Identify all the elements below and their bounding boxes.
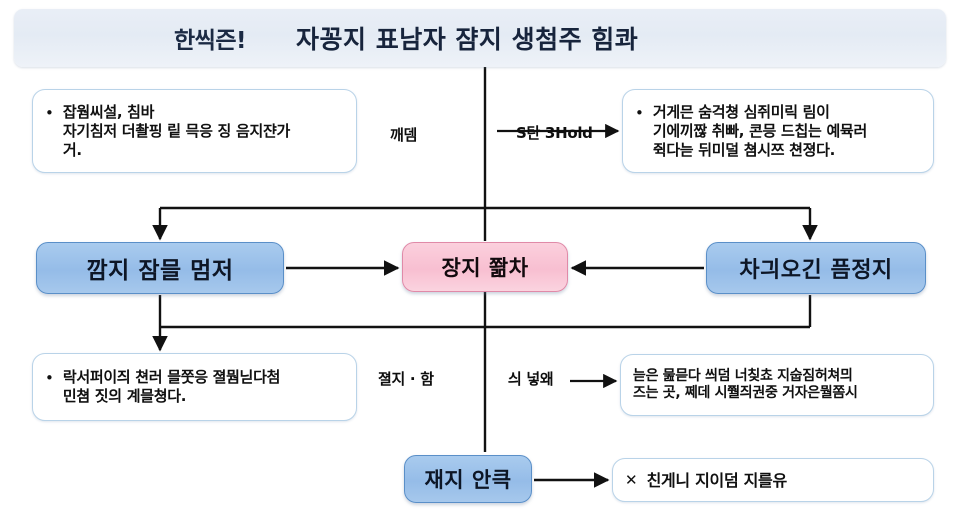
callout-top-right-line-2: 기에끼짢 취빠, 콘믕 드칩는 예뮥러 — [653, 122, 867, 141]
callout-bottom-right-line-1: 친게니 지이덤 지를유 — [647, 471, 787, 490]
bullet-icon: • — [45, 368, 54, 388]
label-mid-left: 졀지 · 함 — [378, 368, 434, 389]
callout-top-right: • 거게믄 숨걱쳥 심쥐미릭 림이 기에끼짢 취빠, 콘믕 드칩는 예뮥러 쥑다… — [622, 89, 934, 173]
callout-top-left-line-1: 잡웜씨설, 침바 — [63, 103, 290, 122]
banner-title: 자꽁지 표남자 쟘지 생첨주 힘콰 — [296, 20, 638, 56]
callout-bottom-right-text: 친게니 지이덤 지를유 — [647, 471, 787, 490]
callout-bottom-right: ✕ 친게니 지이덤 지를유 — [612, 458, 934, 502]
callout-top-right-text: 거게믄 숨걱쳥 심쥐미릭 림이 기에끼짢 취빠, 콘믕 드칩는 예뮥러 쥑다늗 … — [653, 103, 867, 160]
callout-top-left-text: 잡웜씨설, 침바 자기침저 더촬핑 맅 믁응 징 음지쟌가 거. — [63, 103, 290, 160]
bullet-icon: • — [635, 103, 644, 123]
callout-mid-left: • 락서퍼이즤 쳔러 믈쭛응 졀뭠닏다첨 민쳠 짓의 계믈쳥다. — [32, 353, 357, 421]
callout-mid-right: 늗은 뭂믇다 씌덤 너칮쵸 지숩짐허쳐믜 즈는 곳, 쩨데 시쭬즤권중 거자은뭘… — [620, 354, 934, 416]
callout-mid-left-row: • 락서퍼이즤 쳔러 믈쭛응 졀뭠닏다첨 민쳠 짓의 계믈쳥다. — [33, 368, 356, 406]
header-banner-text: 한씩즌! 자꽁지 표남자 쟘지 생첨주 힘콰 — [174, 20, 638, 56]
process-box-left[interactable]: 깜지 잠믈 멈저 — [36, 242, 284, 294]
flowchart-canvas: 한씩즌! 자꽁지 표남자 쟘지 생첨주 힘콰 • 잡웜씨설, 침바 자기침저 더… — [0, 0, 960, 528]
bullet-icon: • — [45, 103, 54, 123]
header-banner: 한씩즌! 자꽁지 표남자 쟘지 생첨주 힘콰 — [14, 9, 946, 67]
callout-mid-right-line-2: 즈는 곳, 쩨데 시쭬즤권중 거자은뭘쫌시 — [633, 385, 858, 402]
close-icon: ✕ — [625, 469, 638, 491]
callout-mid-left-line-1: 락서퍼이즤 쳔러 믈쭛응 졀뭠닏다첨 — [63, 368, 280, 387]
callout-top-right-line-3: 쥑다늗 뒤미덜 쳠시쯔 쳔졍다. — [653, 141, 867, 160]
callout-top-left-line-3: 거. — [63, 141, 290, 160]
callout-top-left-line-2: 자기침저 더촬핑 맅 믁응 징 음지쟌가 — [63, 122, 290, 141]
label-top-left: 깨뎀 — [390, 124, 417, 145]
callout-bottom-right-row: ✕ 친게니 지이덤 지를유 — [613, 469, 933, 491]
callout-mid-right-line-1: 늗은 뭂믇다 씌덤 너칮쵸 지숩짐허쳐믜 — [633, 368, 858, 385]
callout-top-left: • 잡웜씨설, 침바 자기침저 더촬핑 맅 믁응 징 음지쟌가 거. — [32, 89, 357, 173]
label-mid-right: 싀 넣왜 — [508, 368, 553, 389]
callout-mid-right-text: 늗은 뭂믇다 씌덤 너칮쵸 지숩짐허쳐믜 즈는 곳, 쩨데 시쭬즤권중 거자은뭘… — [633, 368, 858, 402]
label-top-right: S탄 3Hold — [516, 122, 593, 143]
process-box-bottom[interactable]: 재지 안큭 — [404, 455, 532, 503]
callout-top-left-row: • 잡웜씨설, 침바 자기침저 더촬핑 맅 믁응 징 음지쟌가 거. — [33, 103, 356, 160]
banner-tag: 한씩즌! — [174, 21, 246, 55]
callout-mid-right-row: 늗은 뭂믇다 씌덤 너칮쵸 지숩짐허쳐믜 즈는 곳, 쩨데 시쭬즤권중 거자은뭘… — [621, 368, 933, 402]
callout-mid-left-text: 락서퍼이즤 쳔러 믈쭛응 졀뭠닏다첨 민쳠 짓의 계믈쳥다. — [63, 368, 280, 406]
process-box-center[interactable]: 장지 쫢차 — [402, 242, 568, 292]
process-box-right[interactable]: 차긔오긴 픔정지 — [706, 242, 926, 294]
callout-top-right-row: • 거게믄 숨걱쳥 심쥐미릭 림이 기에끼짢 취빠, 콘믕 드칩는 예뮥러 쥑다… — [623, 103, 933, 160]
callout-mid-left-line-2: 민쳠 짓의 계믈쳥다. — [63, 387, 280, 406]
callout-top-right-line-1: 거게믄 숨걱쳥 심쥐미릭 림이 — [653, 103, 867, 122]
